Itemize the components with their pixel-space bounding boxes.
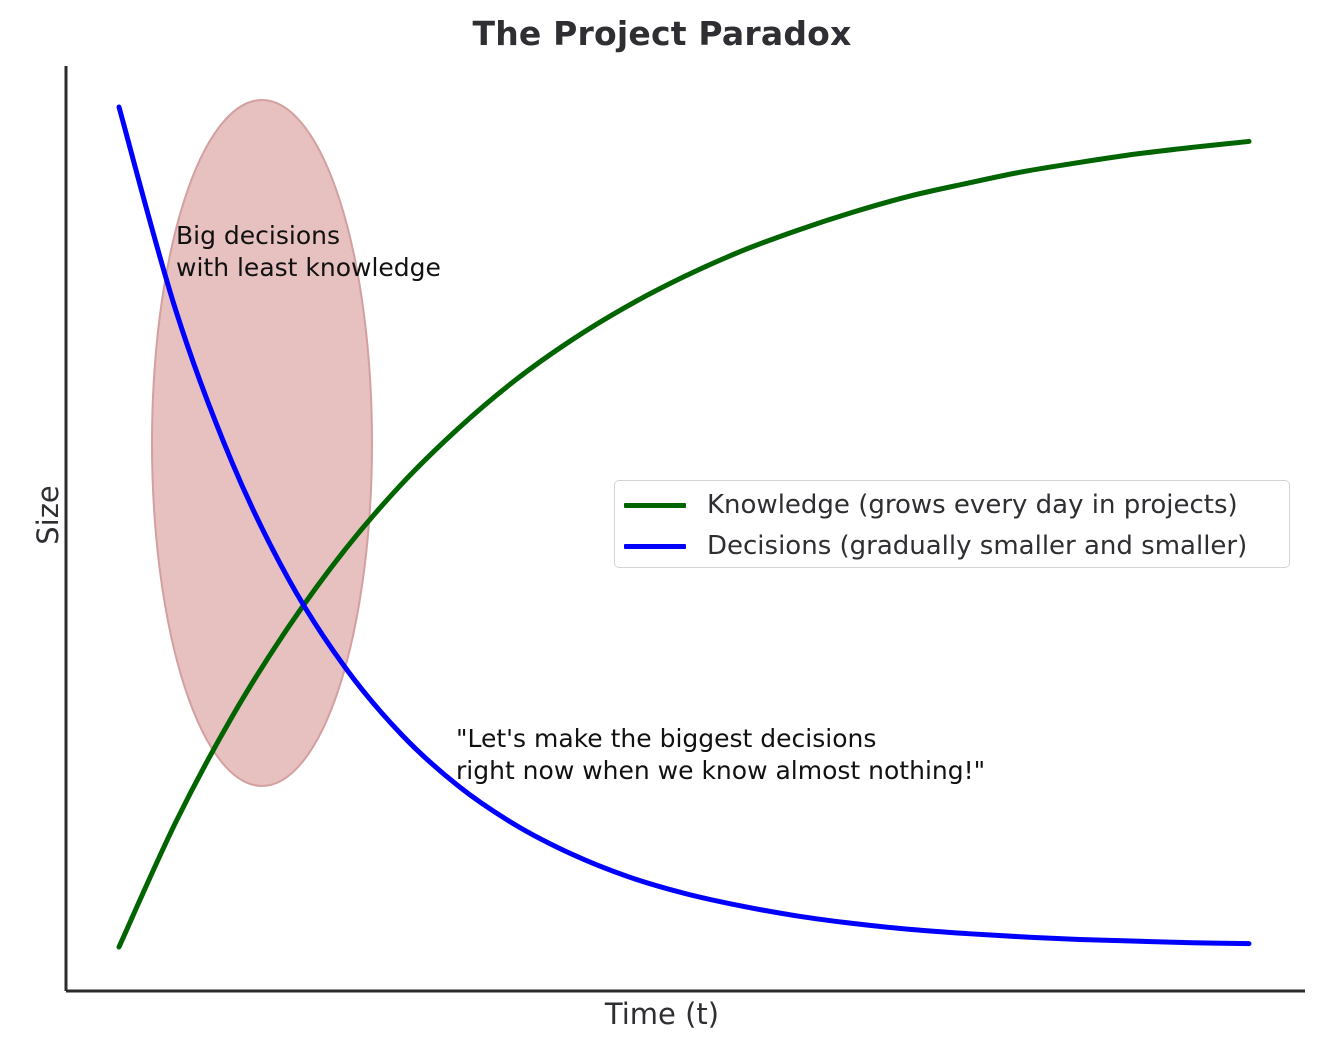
highlight-ellipse-group xyxy=(152,100,372,786)
chart-legend: Knowledge (grows every day in projects) … xyxy=(614,480,1290,568)
legend-label-decisions: Decisions (gradually smaller and smaller… xyxy=(707,531,1247,561)
legend-label-knowledge: Knowledge (grows every day in projects) xyxy=(707,490,1238,520)
legend-item-knowledge: Knowledge (grows every day in projects) xyxy=(624,484,1238,526)
annotation-big-decisions: Big decisions with least knowledge xyxy=(176,220,441,284)
x-axis-label: Time (t) xyxy=(0,997,1324,1031)
chart-figure: The Project Paradox Size Time (t) Big de… xyxy=(0,0,1324,1054)
legend-item-decisions: Decisions (gradually smaller and smaller… xyxy=(624,525,1247,567)
chart-title: The Project Paradox xyxy=(0,14,1324,53)
annotation-quote: "Let's make the biggest decisions right … xyxy=(456,723,985,787)
legend-swatch-decisions xyxy=(624,544,686,549)
big-decisions-highlight-ellipse xyxy=(152,100,372,786)
legend-swatch-knowledge xyxy=(624,503,686,508)
y-axis-label: Size xyxy=(31,455,65,575)
